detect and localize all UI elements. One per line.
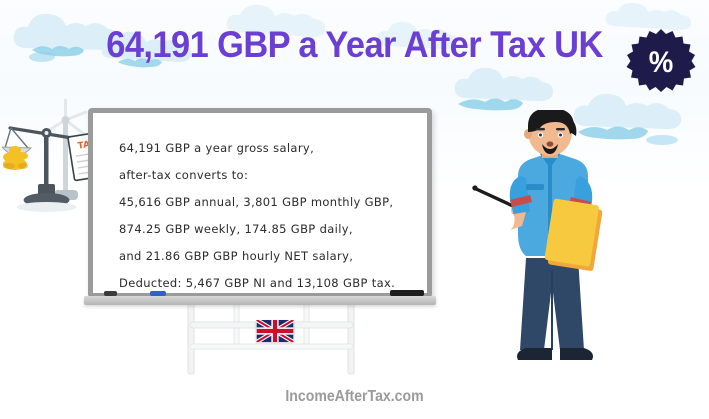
poster-canvas: 64,191 GBP a Year After Tax UK % (0, 0, 709, 419)
uk-flag-icon (256, 320, 294, 342)
page-title: 64,191 GBP a Year After Tax UK (25, 24, 684, 66)
whiteboard-line: 874.25 GBP weekly, 174.85 GBP daily, (119, 216, 413, 243)
whiteboard-line: after-tax converts to: (119, 162, 413, 189)
presenter-person-icon (470, 110, 630, 372)
percent-symbol: % (629, 28, 693, 98)
whiteboard-frame: 64,191 GBP a year gross salary, after-ta… (88, 108, 432, 298)
whiteboard-ledge (84, 296, 436, 305)
whiteboard-line: Deducted: 5,467 GBP NI and 13,108 GBP ta… (119, 270, 413, 293)
whiteboard-surface: 64,191 GBP a year gross salary, after-ta… (93, 113, 427, 293)
whiteboard-line: and 21.86 GBP GBP hourly NET salary, (119, 243, 413, 270)
whiteboard-line: 64,191 GBP a year gross salary, (119, 135, 413, 162)
percent-badge-icon: % (626, 28, 696, 98)
whiteboard-text: 64,191 GBP a year gross salary, after-ta… (119, 135, 413, 293)
whiteboard: 64,191 GBP a year gross salary, after-ta… (88, 108, 432, 298)
footer-brand: IncomeAfterTax.com (43, 388, 667, 406)
whiteboard-line: 45,616 GBP annual, 3,801 GBP monthly GBP… (119, 189, 413, 216)
